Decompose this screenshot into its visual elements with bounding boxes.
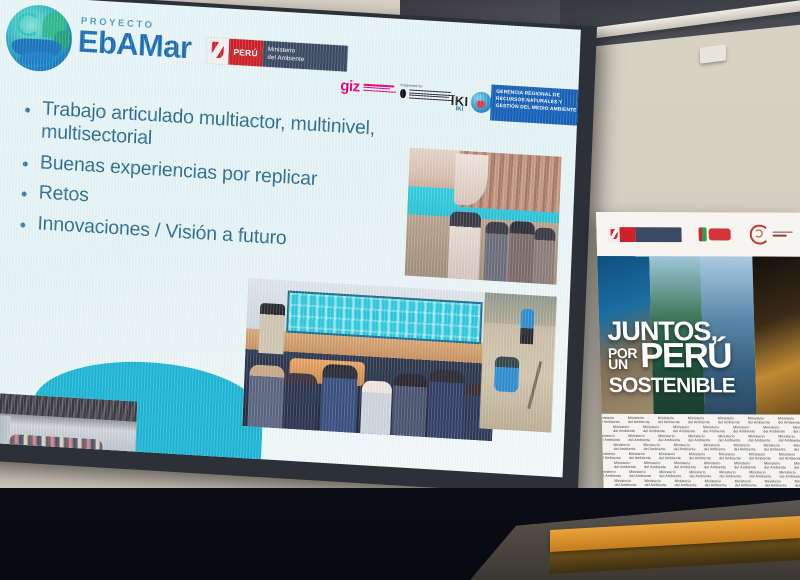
banner-tile-label: Ministeriodel Ambiente xyxy=(764,461,786,470)
banner-tile-label: Ministeriodel Ambiente xyxy=(719,470,741,479)
banner-tile-label: Ministeriodel Ambiente xyxy=(602,434,621,443)
banner-tile-label: Ministeriodel Ambiente xyxy=(793,426,800,435)
banner-tile-label: Ministeriodel Ambiente xyxy=(628,416,650,425)
banner-headline: JUNTOS, POR UN PERÚ SOSTENIBLE xyxy=(607,320,799,395)
slide-bullet-list: Trabajo articulado multiactor, multinive… xyxy=(20,96,385,264)
german-eagle-icon xyxy=(400,89,406,98)
banner-tile-label: Ministeriodel Ambiente xyxy=(689,452,711,461)
banner-logo-row xyxy=(596,212,800,257)
bullet-dot-icon xyxy=(25,107,30,112)
banner-tile-label: Ministeriodel Ambiente xyxy=(673,443,695,452)
banner-tile-label: Ministeriodel Ambiente xyxy=(718,416,740,425)
banner-marca-peru-logo xyxy=(698,226,732,243)
photo-workshop xyxy=(242,278,498,441)
banner-tile-label: Ministeriodel Ambiente xyxy=(778,417,800,426)
banner-tile-label: Ministeriodel Ambiente xyxy=(644,461,666,470)
banner-tile-label: Ministeriodel Ambiente xyxy=(658,416,680,425)
banner-tile-label: Ministeriodel Ambiente xyxy=(629,452,651,461)
banner-tile-label: Ministeriodel Ambiente xyxy=(688,416,710,425)
banner-tile-label: Ministeriodel Ambiente xyxy=(749,470,771,479)
banner-tile-label: Ministeriodel Ambiente xyxy=(659,452,681,461)
giz-tagline-lines xyxy=(364,81,397,93)
banner-tile-label: Ministeriodel Ambiente xyxy=(703,443,725,452)
banner-tile-label: Ministeriodel Ambiente xyxy=(614,461,636,470)
banner-tile-label: Ministeriodel Ambiente xyxy=(614,479,636,488)
bmu-text-lines xyxy=(408,89,454,102)
banner-tile-label: Ministeriodel Ambiente xyxy=(602,416,620,425)
banner-tile-label: Ministeriodel Ambiente xyxy=(658,434,680,443)
giz-logo: giz xyxy=(340,79,397,96)
banner-tile-label: Ministeriodel Ambiente xyxy=(704,461,726,470)
iki-sublabel: IKI xyxy=(455,106,463,112)
banner-tile-label: Ministeriodel Ambiente xyxy=(748,416,770,425)
banner-tile-label: Ministeriodel Ambiente xyxy=(703,425,725,434)
presentation-slide: PROYECTO EbAMar PERÚ Ministerio del Ambi… xyxy=(0,0,581,477)
banner-tile-label: Ministeriodel Ambiente xyxy=(613,443,635,452)
banner-tile-label: Ministeriodel Ambiente xyxy=(764,443,786,452)
peru-minam-logo: PERÚ Ministerio del Ambiente xyxy=(206,37,348,71)
banner-tile-label: Ministeriodel Ambiente xyxy=(602,452,621,461)
banner-tile-label: Ministeriodel Ambiente xyxy=(794,444,800,453)
bullet-dot-icon xyxy=(23,161,28,166)
banner-tile-label: Ministeriodel Ambiente xyxy=(718,434,740,443)
banner-tile-label: Ministeriodel Ambiente xyxy=(779,453,800,462)
banner-tile-label: Ministeriodel Ambiente xyxy=(794,462,800,471)
banner-tile-label: Ministeriodel Ambiente xyxy=(602,470,622,479)
banner-tile-label: Ministeriodel Ambiente xyxy=(673,425,695,434)
banner-tile-label: Ministeriodel Ambiente xyxy=(734,443,756,452)
banner-tile-label: Ministeriodel Ambiente xyxy=(613,425,635,434)
banner-tile-label: Ministeriodel Ambiente xyxy=(763,425,785,434)
banner-tile-label: Ministeriodel Ambiente xyxy=(659,470,681,479)
banner-tile-label: Ministeriodel Ambiente xyxy=(778,435,800,444)
banner-peru-minam-logo xyxy=(607,227,681,242)
banner-tile-label: Ministeriodel Ambiente xyxy=(629,470,651,479)
banner-title-line4: PERÚ xyxy=(640,342,732,371)
banner-tile-label: Ministeriodel Ambiente xyxy=(734,461,756,470)
bullet-text: Retos xyxy=(38,182,89,208)
banner-tile-label: Ministeriodel Ambiente xyxy=(688,434,710,443)
banner-tile-label: Ministeriodel Ambiente xyxy=(643,425,665,434)
banner-tile-label: Ministeriodel Ambiente xyxy=(748,434,770,443)
banner-tile-label: Ministeriodel Ambiente xyxy=(644,479,666,488)
banner-title-line5: SOSTENIBLE xyxy=(609,377,800,395)
peru-country-label: PERÚ xyxy=(228,39,263,67)
minam-label: Ministerio del Ambiente xyxy=(262,41,348,72)
projection-screen: PROYECTO EbAMar PERÚ Ministerio del Ambi… xyxy=(0,0,597,496)
photo-binoculars xyxy=(405,148,562,285)
banner-tile-label: Ministeriodel Ambiente xyxy=(689,470,711,479)
bullet-text: Innovaciones / Visión a futuro xyxy=(37,213,287,251)
banner-tile-label: Ministeriodel Ambiente xyxy=(674,479,696,488)
banner-tile-label: Ministeriodel Ambiente xyxy=(643,443,665,452)
grrnyma-logo: GERENCIA REGIONAL DE RECURSOS NATURALES … xyxy=(490,84,581,126)
rollup-banner: JUNTOS, POR UN PERÚ SOSTENIBLE Ministeri… xyxy=(596,212,800,531)
ebamar-logo-icon xyxy=(5,3,74,73)
bullet-dot-icon xyxy=(22,192,27,197)
giz-wordmark: giz xyxy=(340,79,360,94)
bmu-germany-logo: Supported by: xyxy=(400,83,459,103)
banner-title-line3: UN xyxy=(608,359,637,371)
banner-tile-label: Ministeriodel Ambiente xyxy=(733,425,755,434)
conference-room-photo: PROYECTO EbAMar PERÚ Ministerio del Ambi… xyxy=(0,0,800,580)
banner-tile-label: Ministeriodel Ambiente xyxy=(719,452,741,461)
peru-shield-icon xyxy=(206,37,229,64)
photo-fieldwork xyxy=(479,292,556,432)
banner-bicentenario-logo xyxy=(749,225,793,245)
banner-tile-label: Ministeriodel Ambiente xyxy=(749,452,771,461)
iki-globe-icon xyxy=(470,91,492,113)
banner-tile-label: Ministeriodel Ambiente xyxy=(628,434,650,443)
ceiling-light-fixture xyxy=(700,44,726,63)
spiral-icon xyxy=(749,225,770,245)
project-name: EbAMar xyxy=(77,26,192,64)
banner-tile-label: Ministeriodel Ambiente xyxy=(779,471,800,480)
banner-tile-label: Ministeriodel Ambiente xyxy=(674,461,696,470)
banner-tile-label: Ministeriodel Ambiente xyxy=(705,479,727,488)
bullet-dot-icon xyxy=(20,223,25,228)
